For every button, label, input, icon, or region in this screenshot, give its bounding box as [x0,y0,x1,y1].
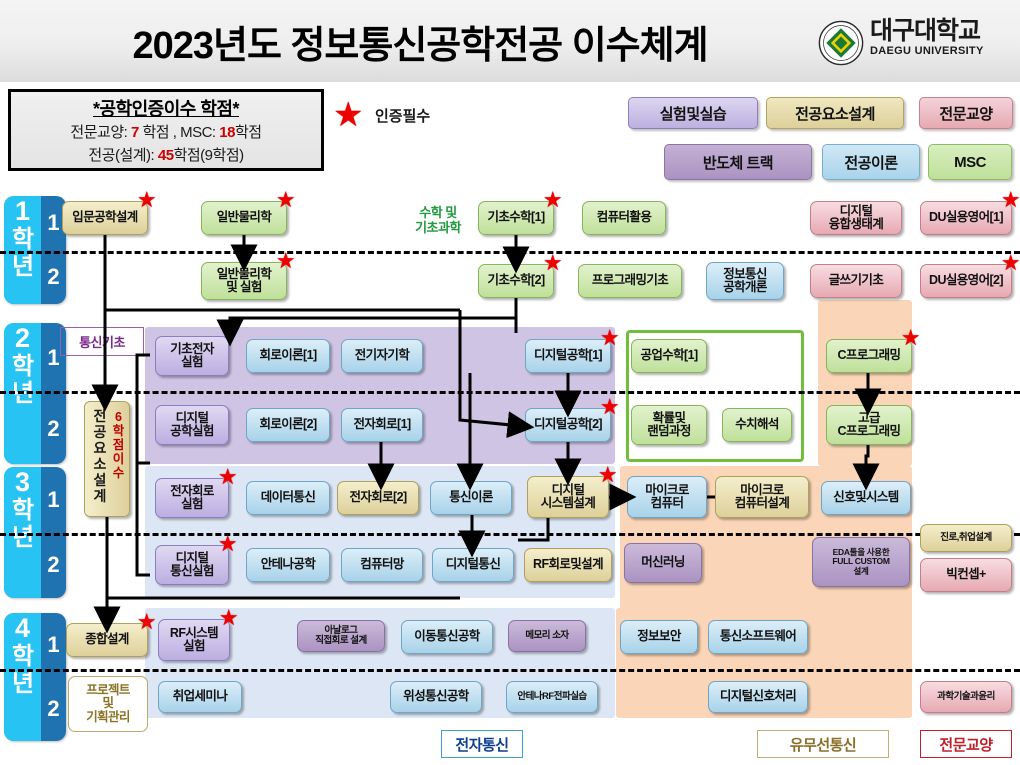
course-name: 디지털 시스템설계 [541,484,596,511]
year-word: 학년 [4,353,41,407]
semester-2-label: 2 [41,677,66,741]
course-node[interactable]: 일반물리학 및 실험★ [201,262,287,300]
university-logo: 대구대학교 DAEGU UNIVERSITY [818,18,1014,70]
course-node[interactable]: 빅컨셉+ [920,558,1012,592]
star-icon: ★ [276,250,295,272]
accreditation-credits-line-2: 전공(설계): 45학점(9학점) [11,144,321,167]
course-name: 취업세미나 [173,690,228,704]
credit-unit-2: 학점(9학점) [174,147,244,164]
daegu-university-emblem-icon [818,20,864,66]
course-node[interactable]: 컴퓨터망 [341,548,423,582]
course-name: 회로이론[1] [259,349,316,363]
course-name: EDA툴을 사용한 FULL CUSTOM 설계 [832,548,889,577]
course-node[interactable]: 디지털공학[1]★ [525,339,611,373]
course-name: 기초전자 실험 [170,343,214,370]
star-legend-label: 인증필수 [375,105,430,126]
course-node[interactable]: 전자회로 실험★ [155,478,229,518]
course-node[interactable]: 프로젝트 및 기획관리 [68,676,148,732]
star-icon: ★ [901,327,920,349]
course-node[interactable]: 안테나RF전파실습 [506,681,598,713]
course-name: 이동통신공학 [414,630,479,644]
major-label: 전공(설계): [88,147,158,164]
course-node[interactable]: 정보보안 [620,620,698,654]
course-node[interactable]: DU실용영어[2]★ [920,264,1012,298]
course-name: 회로이론[2] [259,418,316,432]
course-node[interactable]: 과학기술과윤리 [920,681,1012,713]
course-name: 입문공학설계 [72,211,137,225]
course-name: 메모리 소자 [525,631,568,642]
semester-2-label: 2 [41,394,66,465]
course-name: 아날로그 직접회로 설계 [315,626,367,647]
course-name: 안테나공학 [261,558,316,572]
course-node[interactable]: 프로그래밍기초 [578,264,682,298]
semester-separator-4 [0,669,1020,672]
year-number: 3 [4,467,41,497]
category-legend-item: 실험및실습 [628,97,758,129]
course-name: 컴퓨터망 [360,558,404,572]
category-legend-item: 전공요소설계 [766,97,904,129]
course-node[interactable]: 머신러닝 [624,543,702,583]
course-node[interactable]: 진로,취업설계 [920,524,1012,552]
course-name: 통신이론 [449,491,493,505]
track-legend-item: 전문교양 [920,730,1012,758]
course-node[interactable]: 취업세미나 [158,681,242,713]
course-name: 통신소프트웨어 [720,630,796,644]
course-name: 전자회로[1] [353,418,410,432]
course-node[interactable]: 디지털통신 [432,548,514,582]
course-name: 머신러닝 [641,556,685,570]
course-node[interactable]: 디지털 시스템설계★ [527,476,609,518]
semester-2-label: 2 [41,533,66,599]
course-name: 전자회로[2] [349,491,406,505]
semester-separator-1 [0,251,1020,254]
curriculum-diagram: 2023년도 정보통신공학전공 이수체계 대구대학교 DAEGU UNIVERS… [0,0,1020,765]
track-legend-item: 유무선통신 [757,730,889,758]
course-node[interactable]: 디지털 공학실험 [155,405,229,445]
year-label-1: 1 학년 1 2 [4,196,66,304]
course-name: 디지털 통신실험 [170,552,214,579]
course-name: DU실용영어[1] [929,211,1003,225]
semester-2-label: 2 [41,250,66,304]
course-name: 디지털통신 [446,558,501,572]
gen-ed-credits: 7 [131,124,139,141]
course-name: 과학기술과윤리 [937,692,995,703]
logo-korean-name: 대구대학교 [870,18,984,45]
star-icon: ★ [137,611,156,633]
course-name: 안테나RF전파실습 [517,692,586,703]
course-node[interactable]: 회로이론[2] [246,408,330,442]
course-node[interactable]: 기초수학[2]★ [478,264,554,298]
gen-ed-label: 전문교양: [70,124,131,141]
course-name: 전자회로 실험 [170,485,214,512]
course-node[interactable]: RF회로및설계 [524,548,612,582]
course-name: 일반물리학 [217,211,272,225]
course-node[interactable]: 컴퓨터활용 [582,201,666,235]
semester-separator-3 [0,533,1020,536]
star-icon: ★ [543,252,562,274]
year-number-word: 1 학년 [4,196,41,304]
logo-english-name: DAEGU UNIVERSITY [870,45,984,58]
course-name: 종합설계 [85,633,129,647]
course-name: 마이크로 컴퓨터 [645,484,689,511]
category-legend-item: 전공이론 [822,144,920,180]
course-name: 공업수학[1] [640,349,697,363]
course-node[interactable]: 전자회로[2] [337,481,419,515]
course-node[interactable]: 입문공학설계★ [62,201,148,235]
semester-1-label: 1 [41,467,66,533]
course-name: 기초수학[1] [487,211,544,225]
major-credits: 45 [158,147,174,164]
course-node[interactable]: 아날로그 직접회로 설계 [297,620,385,652]
course-node[interactable]: 고급 C프로그래밍 [826,405,912,445]
category-legend-item: MSC [928,144,1012,180]
course-name: 글쓰기기초 [829,274,884,288]
semester-separator-2 [0,391,1020,394]
math-science-group-label: 수학 및 기초과학 [398,205,478,235]
course-node[interactable]: 일반물리학★ [201,201,287,235]
msc-label: 학점 , MSC: [139,124,219,141]
year-word: 학년 [4,497,41,551]
course-name: 전기자기학 [355,349,410,363]
year-number: 2 [4,323,41,353]
star-icon: ★ [600,327,619,349]
course-node[interactable]: 메모리 소자 [508,620,586,652]
major-element-design-label: 전공요소설계 [91,408,109,504]
year-number: 1 [4,196,41,226]
course-name: 데이터통신 [261,491,316,505]
course-node[interactable]: 마이크로 컴퓨터 [627,476,707,518]
course-node[interactable]: RF시스템 실험★ [158,619,230,661]
course-name: 확률및 랜덤과정 [647,412,691,439]
course-node[interactable]: 공업수학[1] [631,339,707,373]
category-legend-item: 반도체 트랙 [664,144,812,180]
course-name: 프로그래밍기초 [592,274,668,288]
course-name: 프로젝트 및 기획관리 [86,684,130,725]
course-node[interactable]: 전기자기학 [341,339,423,373]
course-node[interactable]: 디지털신호처리 [708,681,808,713]
star-icon: ★ [1001,252,1020,274]
course-node[interactable]: 회로이론[1] [246,339,330,373]
course-node[interactable]: C프로그래밍★ [826,339,912,373]
course-name: 마이크로 컴퓨터설계 [735,484,790,511]
track-legend-item: 전자통신 [441,730,523,758]
major-element-design-credits: 6학점이수 [111,410,126,480]
course-node[interactable]: 신호및시스템 [821,481,911,515]
course-name: 진로,취업설계 [940,533,992,544]
credit-unit-1: 학점 [235,124,262,141]
category-legend-item: 전문교양 [919,97,1013,129]
year-number-word: 4 학년 [4,613,41,741]
year-label-4: 4 학년 1 2 [4,613,66,741]
course-node[interactable]: 마이크로 컴퓨터설계 [715,476,809,518]
star-icon: ★ [598,464,617,486]
course-node[interactable]: 확률및 랜덤과정 [631,405,707,445]
course-name: DU실용영어[2] [929,274,1003,288]
semester-1-label: 1 [41,613,66,677]
course-name: 정보통신 공학개론 [723,268,767,295]
star-legend: ★ 인증필수 [333,98,503,132]
star-icon: ★ [137,189,156,211]
course-name: 수치해석 [735,418,779,432]
course-node[interactable]: 정보통신 공학개론 [706,262,784,300]
course-node[interactable]: 위성통신공학 [390,681,482,713]
star-icon: ★ [1001,189,1020,211]
course-name: 디지털 공학실험 [170,412,214,439]
major-element-design-credit-node: 전공요소설계 6학점이수 [84,401,130,517]
star-icon: ★ [218,533,237,555]
course-node[interactable]: 디지털공학[2]★ [525,408,611,442]
course-name: 빅컨셉+ [946,568,985,582]
course-name: 고급 C프로그래밍 [838,412,901,439]
course-name: 일반물리학 및 실험 [217,268,272,295]
accreditation-credits-line-1: 전문교양: 7 학점 , MSC: 18학점 [11,121,321,144]
star-icon: ★ [219,607,238,629]
course-name: 디지털신호처리 [720,690,796,704]
course-name: 신호및시스템 [833,491,898,505]
course-node[interactable]: DU실용영어[1]★ [920,201,1012,235]
course-node[interactable]: 기초전자 실험 [155,336,229,376]
course-name: RF시스템 실험 [170,627,218,654]
course-name: 기초수학[2] [487,274,544,288]
accreditation-credits-box: *공학인증이수 학점* 전문교양: 7 학점 , MSC: 18학점 전공(설계… [8,89,324,171]
course-node[interactable]: 통신소프트웨어 [708,620,808,654]
course-name: 위성통신공학 [403,690,468,704]
page-title: 2023년도 정보통신공학전공 이수체계 [40,12,800,70]
course-node[interactable]: 기초수학[1]★ [478,201,554,235]
year-number: 4 [4,613,41,643]
course-node[interactable]: 데이터통신 [246,481,330,515]
star-icon: ★ [218,466,237,488]
page-header: 2023년도 정보통신공학전공 이수체계 대구대학교 DAEGU UNIVERS… [0,0,1020,82]
star-icon: ★ [276,189,295,211]
course-name: 디지털 융합생태계 [829,205,884,232]
course-node[interactable]: 전자회로[1] [341,408,423,442]
star-icon: ★ [543,189,562,211]
course-name: 정보보안 [637,630,681,644]
course-node[interactable]: 이동통신공학 [401,620,493,654]
course-node[interactable]: 통신이론 [430,481,512,515]
course-node[interactable]: 안테나공학 [246,548,330,582]
course-name: 컴퓨터활용 [597,211,652,225]
msc-credits: 18 [219,124,235,141]
course-name: C프로그래밍 [838,349,901,363]
course-node[interactable]: 종합설계★ [66,623,148,657]
course-node[interactable]: 글쓰기기초 [810,264,902,298]
course-node[interactable]: 디지털 융합생태계 [810,201,902,235]
accreditation-credits-title: *공학인증이수 학점* [11,95,321,121]
course-node[interactable]: 수치해석 [722,408,792,442]
course-node[interactable]: 디지털 통신실험★ [155,545,229,585]
comm-basic-group-label: 통신기초 [60,327,144,356]
star-icon: ★ [600,396,619,418]
course-node[interactable]: EDA툴을 사용한 FULL CUSTOM 설계 [812,537,910,587]
course-name: RF회로및설계 [533,558,603,572]
course-name: 디지털공학[1] [534,349,602,363]
course-name: 디지털공학[2] [534,418,602,432]
